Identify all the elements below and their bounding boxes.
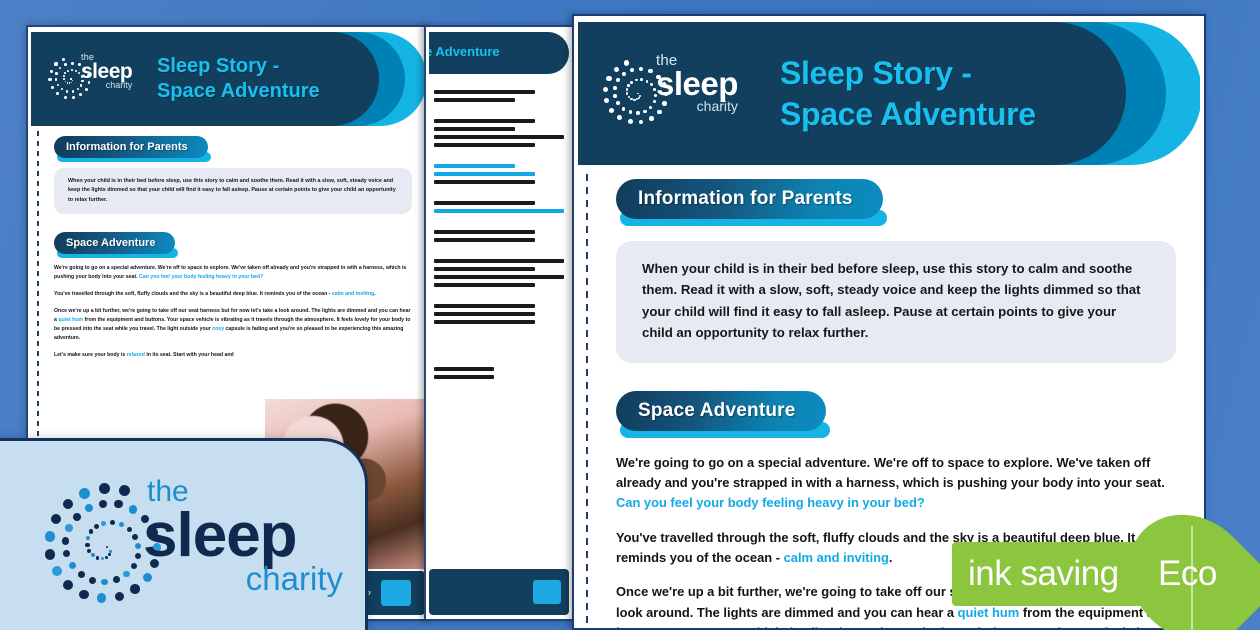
p1-text: We're going to go on a special adventure… [616, 455, 1165, 490]
info-for-parents-box: When your child is in their bed before s… [616, 241, 1176, 363]
story-paragraph-1: We're going to go on a special adventure… [616, 453, 1176, 514]
info-for-parents-heading: Information for Parents [616, 179, 883, 219]
mid-footer-logo-icon [533, 580, 561, 604]
left-thumb-story: We're going to go on a special adventure… [54, 264, 412, 360]
ink-saving-eco-badge: ink saving Eco [952, 520, 1260, 630]
logo-sleep-text: sleep [656, 69, 738, 99]
eco-badge-word: Eco [1158, 554, 1217, 594]
sleep-charity-logo: the sleep charity [600, 46, 750, 142]
p1-highlight: Can you feel your body feeling heavy in … [616, 495, 925, 510]
logo-sleep-text: sleep [81, 62, 132, 81]
page-title-line2: Space Adventure [780, 94, 1036, 135]
left-thumb-info-heading: Information for Parents [54, 136, 208, 158]
left-thumb-p2: You've travelled through the soft, fluff… [54, 290, 412, 299]
left-thumb-title: Sleep Story - Space Adventure [157, 54, 320, 104]
info-paragraph: When your child is in their bed before s… [642, 258, 1150, 344]
left-thumb-title-line2: Space Adventure [157, 79, 320, 104]
mid-thumb-title: e Adventure [429, 44, 500, 59]
mid-thumb-body [426, 74, 572, 379]
left-thumb-story-heading: Space Adventure [54, 232, 175, 254]
left-thumb-p1: We're going to go on a special adventure… [54, 264, 412, 282]
sleep-charity-logo-large: the sleep charity [41, 469, 341, 619]
main-header: the sleep charity Sleep Story - Space Ad… [578, 22, 1200, 165]
page-title: Sleep Story - Space Adventure [780, 53, 1036, 135]
brand-logo-panel: the sleep charity [0, 438, 368, 630]
p2-text-end: . [889, 550, 893, 565]
mid-thumb-header: e Adventure [429, 32, 569, 74]
left-thumb-info-paragraph: When your child is in their bed before s… [68, 177, 398, 205]
left-thumb-title-line1: Sleep Story - [157, 54, 320, 79]
page-title-line1: Sleep Story - [780, 53, 1036, 94]
p2-highlight: calm and inviting [784, 550, 889, 565]
space-adventure-heading: Space Adventure [616, 391, 826, 431]
mid-thumb-footer [429, 569, 569, 615]
footer-logo-badge-icon [381, 580, 411, 606]
panel-logo-sleep: sleep [143, 507, 343, 564]
eco-badge-label: ink saving [968, 554, 1119, 594]
sleep-charity-logo: the sleep charity [45, 48, 141, 110]
cut-line [586, 174, 588, 629]
left-thumb-p3: Once we're up a bit further, we're going… [54, 307, 412, 343]
middle-thumbnail-page[interactable]: e Adventure [424, 25, 574, 621]
left-thumb-p4: Let's make sure your body is relaxed in … [54, 351, 412, 360]
left-thumb-info-box: When your child is in their bed before s… [54, 168, 412, 214]
left-thumb-header: the sleep charity Sleep Story - Space Ad… [31, 32, 425, 126]
